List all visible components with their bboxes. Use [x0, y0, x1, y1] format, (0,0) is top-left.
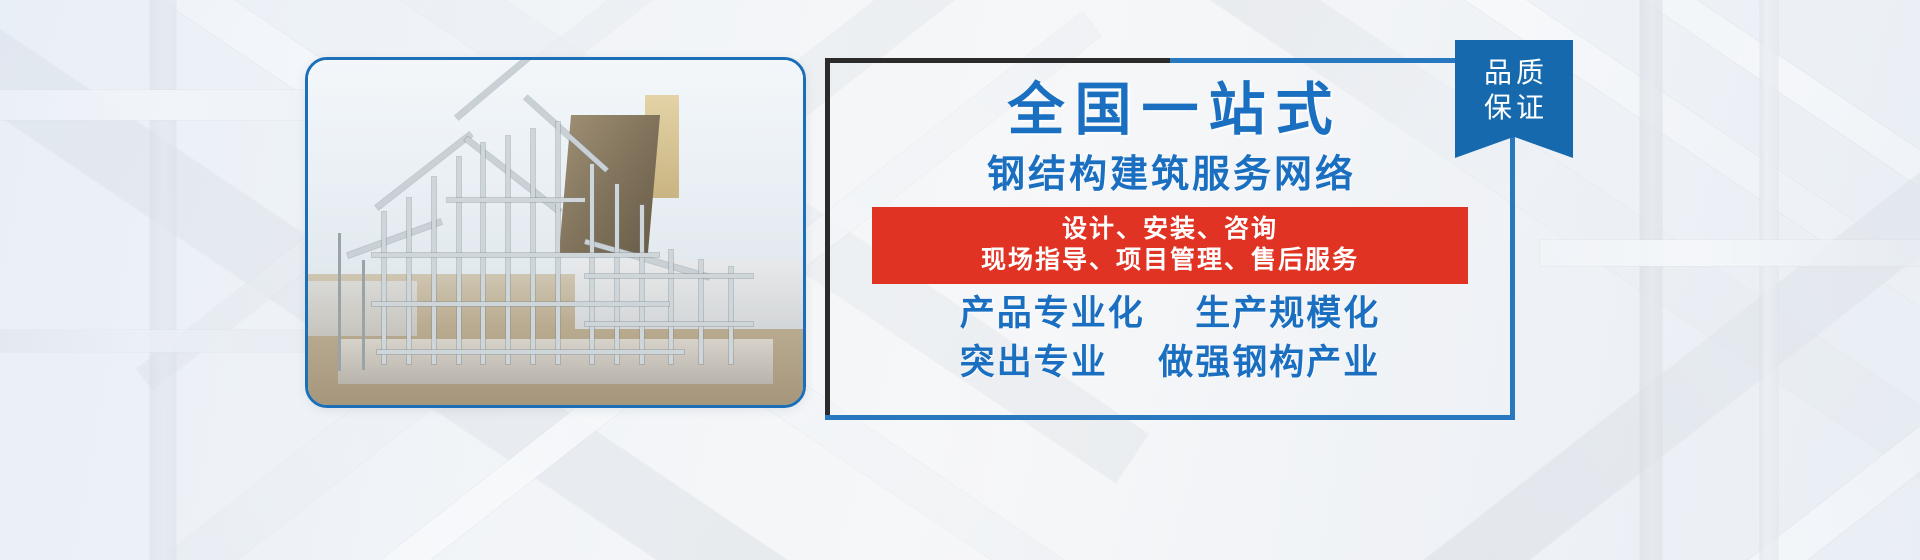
photo-steel-stud: [432, 177, 436, 363]
photo-steel-stud: [729, 267, 733, 364]
slogan-row-2: 突出专业 做强钢构产业: [960, 346, 1380, 381]
construction-photo: [308, 60, 803, 405]
construction-photo-card: [305, 57, 806, 408]
badge-line-2: 保证: [1480, 91, 1548, 126]
services-line-2: 现场指导、项目管理、售后服务: [872, 244, 1468, 275]
slogan-1-left: 产品专业化: [960, 294, 1145, 334]
promo-banner: 全国一站式 钢结构建筑服务网络 设计、安装、咨询 现场指导、项目管理、售后服务 …: [0, 0, 1920, 560]
services-highlight-box: 设计、安装、咨询 现场指导、项目管理、售后服务: [872, 207, 1468, 284]
slogan-2-right: 做强钢构产业: [1158, 343, 1380, 383]
photo-steel-stud: [506, 136, 510, 364]
photo-steel-stud: [457, 157, 461, 364]
content-frame: 全国一站式 钢结构建筑服务网络 设计、安装、咨询 现场指导、项目管理、售后服务 …: [825, 58, 1515, 420]
photo-utility-pole: [362, 260, 365, 370]
badge-line-1: 品质: [1480, 56, 1548, 91]
photo-steel-track: [377, 350, 684, 354]
photo-steel-track: [372, 302, 669, 306]
content-inner: 全国一站式 钢结构建筑服务网络 设计、安装、咨询 现场指导、项目管理、售后服务 …: [825, 58, 1515, 420]
photo-wood-sheathing: [559, 115, 660, 253]
photo-steel-stud: [669, 250, 673, 364]
photo-steel-stud: [590, 164, 594, 364]
photo-steel-stud: [382, 212, 386, 364]
photo-steel-track: [585, 274, 753, 278]
photo-steel-track: [447, 198, 586, 202]
photo-steel-stud: [556, 122, 560, 364]
headline-primary: 全国一站式: [998, 82, 1343, 139]
services-line-1: 设计、安装、咨询: [872, 213, 1468, 244]
slogan-row-1: 产品专业化 生产规模化: [960, 297, 1380, 332]
slogan-1-right: 生产规模化: [1195, 294, 1380, 334]
headline-secondary: 钢结构建筑服务网络: [984, 155, 1356, 193]
photo-steel-stud: [531, 129, 535, 364]
photo-steel-stud: [640, 205, 644, 364]
photo-utility-pole: [338, 233, 341, 371]
photo-steel-stud: [407, 198, 411, 364]
photo-steel-track: [372, 253, 659, 257]
photo-steel-track: [585, 322, 753, 326]
slogan-2-left: 突出专业: [960, 343, 1108, 383]
